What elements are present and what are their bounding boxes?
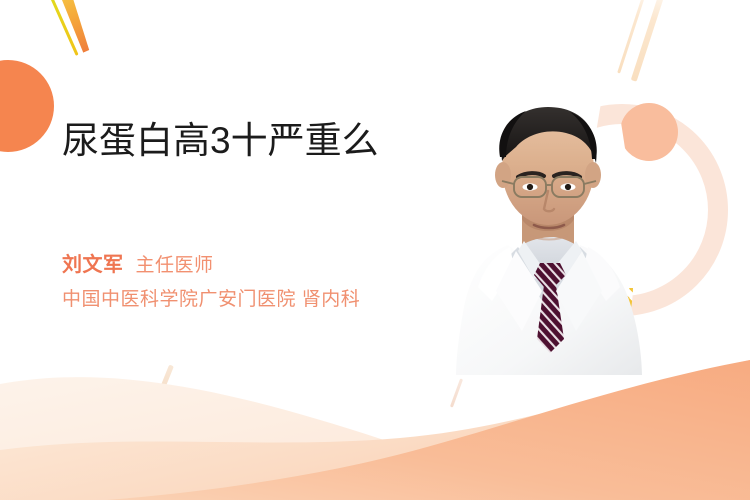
doctor-affiliation: 中国中医科学院广安门医院 肾内科 <box>62 284 360 311</box>
doctor-title: 主任医师 <box>136 255 214 276</box>
doctor-portrait <box>430 95 680 375</box>
page-title: 尿蛋白高3十严重么 <box>62 118 379 164</box>
diagonal-stripe-icon <box>53 0 93 54</box>
doctor-info-card: 尿蛋白高3十严重么 刘文军主任医师 中国中医科学院广安门医院 肾内科 <box>0 0 750 500</box>
doctor-credentials: 刘文军主任医师 <box>62 248 214 277</box>
diagonal-stripe-icon <box>617 0 651 74</box>
diagonal-stripe-icon <box>155 364 174 401</box>
wave-icon <box>0 356 750 500</box>
diagonal-stripe-icon <box>44 0 78 56</box>
diagonal-stripe-icon <box>450 378 463 407</box>
diagonal-stripe-icon <box>631 0 670 82</box>
circle-icon <box>0 60 54 152</box>
doctor-name: 刘文军 <box>62 254 124 276</box>
